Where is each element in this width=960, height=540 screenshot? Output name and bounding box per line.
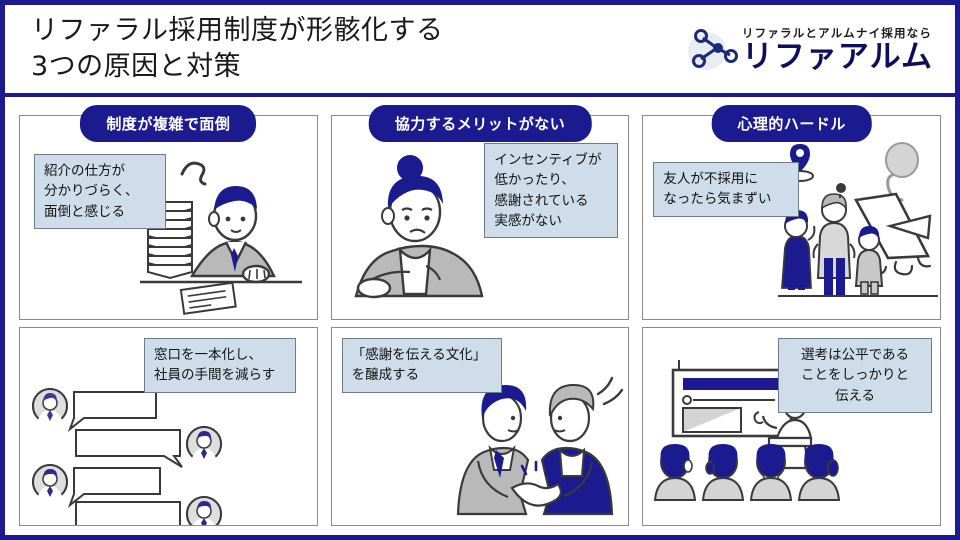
column-2-problem-panel: インセンティブが 低かったり、 感謝されている 実感がない (331, 115, 630, 320)
column-2-solution-callout: 「感謝を伝える文化」 を醸成する (342, 338, 502, 393)
column-2-header-pill: 協力するメリットがない (369, 105, 592, 142)
logo-wordmark: リファラルとアルムナイ採用なら リファアルム (742, 25, 933, 73)
logo-name: リファアルム (742, 42, 933, 73)
network-nodes-icon (686, 23, 738, 75)
brand-logo: リファラルとアルムナイ採用なら リファアルム (686, 23, 933, 75)
column-1-header-pill: 制度が複雑で面倒 (80, 105, 256, 142)
column-3-header-pill: 心理的ハードル (711, 105, 872, 142)
column-1-solution-panel: 窓口を一本化し、 社員の手間を減らす (19, 327, 318, 526)
disappointed-woman-illustration (338, 146, 503, 311)
column-3-problem-panel: 友人が不採用に なったら気まずい (642, 115, 941, 320)
column-2: 協力するメリットがない インセンティブが 低かったり、 感謝されている 実感がな… (331, 115, 630, 526)
column-3-solution-callout: 選考は公平である ことをしっかりと 伝える (778, 338, 932, 413)
column-1-problem-panel: 紹介の仕方が 分かりづらく、 面倒と感じる (19, 115, 318, 320)
people-near-crashed-object-illustration (778, 138, 938, 303)
column-2-problem-callout: インセンティブが 低かったり、 感謝されている 実感がない (484, 143, 618, 238)
slide: リファラル採用制度が形骸化する 3つの原因と対策 リファラルとアルムナイ採用なら… (0, 0, 960, 540)
slide-header: リファラル採用制度が形骸化する 3つの原因と対策 リファラルとアルムナイ採用なら… (5, 5, 955, 97)
column-3-problem-callout: 友人が不採用に なったら気まずい (653, 162, 799, 217)
columns-container: 制度が複雑で面倒 紹介の仕方が 分かりづらく、 面倒と感じる (5, 97, 955, 536)
column-2-solution-panel: 「感謝を伝える文化」 を醸成する (331, 327, 630, 526)
chat-bubbles-with-avatars-illustration (24, 386, 234, 526)
page-title: リファラル採用制度が形骸化する 3つの原因と対策 (31, 13, 444, 84)
column-1-problem-callout: 紹介の仕方が 分かりづらく、 面倒と感じる (34, 154, 166, 229)
column-1: 制度が複雑で面倒 紹介の仕方が 分かりづらく、 面倒と感じる (19, 115, 318, 526)
column-1-solution-callout: 窓口を一本化し、 社員の手間を減らす (144, 338, 296, 393)
column-3: 心理的ハードル 友人が不採用に なったら気まずい (642, 115, 941, 526)
column-3-solution-panel: 選考は公平である ことをしっかりと 伝える (642, 327, 941, 526)
